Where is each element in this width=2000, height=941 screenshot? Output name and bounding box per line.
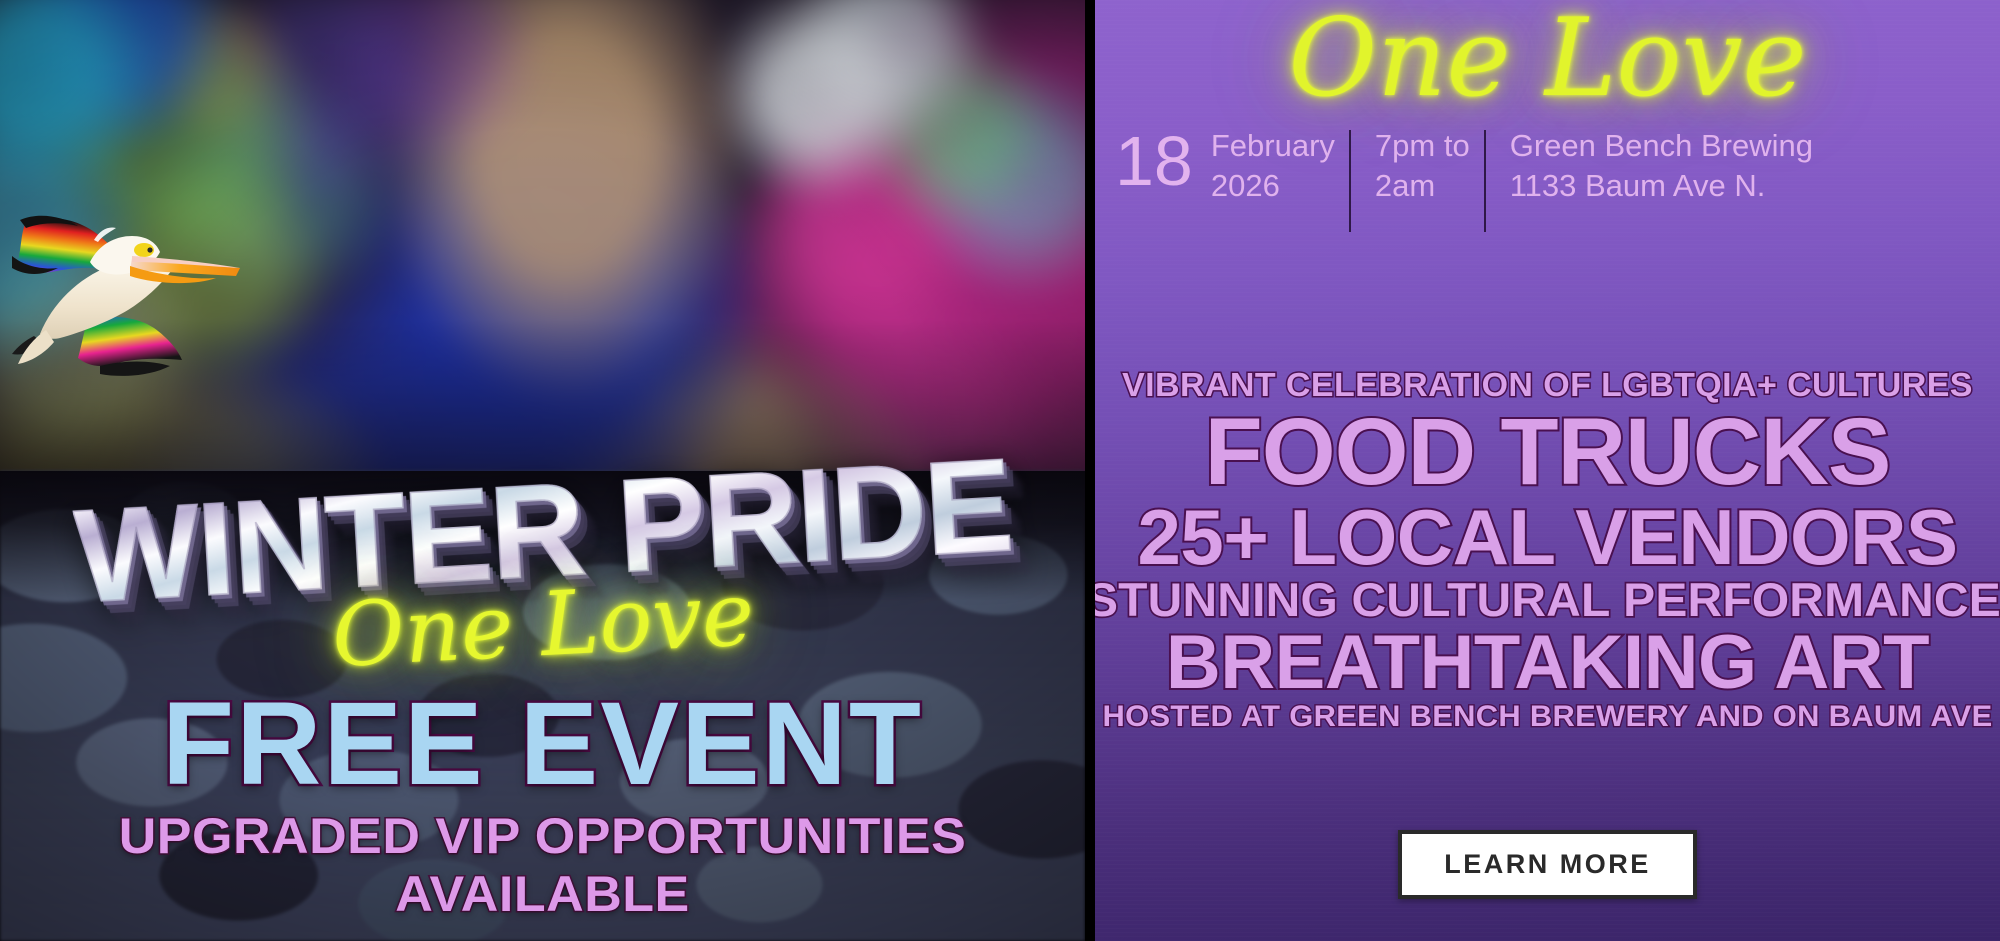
title-group: WINTER PRIDE One Love [0, 455, 1085, 685]
right-info-panel: One Love 18 February 2026 7pm to 2am Gre… [1095, 0, 2000, 941]
free-event-group: FREE EVENT UPGRADED VIP OPPORTUNITIES AV… [0, 685, 1085, 923]
cta-container: LEARN MORE [1095, 830, 2000, 899]
panel-divider [1085, 0, 1095, 941]
event-details-row: 18 February 2026 7pm to 2am Green Bench … [1115, 126, 1986, 232]
event-month-year: February 2026 [1193, 126, 1349, 205]
detail-separator-1 [1349, 130, 1351, 232]
feature-item-4: BREATHTAKING ART [1095, 625, 2000, 701]
rainbow-pelican-icon [4, 208, 274, 388]
detail-separator-2 [1484, 130, 1486, 232]
feature-item-5: HOSTED AT GREEN BENCH BREWERY AND ON BAU… [1095, 702, 2000, 732]
feature-list: VIBRANT CELEBRATION OF LGBTQIA+ CULTURES… [1095, 368, 2000, 732]
neon-tagline-right: One Love [1288, 0, 1806, 121]
event-time: 7pm to 2am [1351, 126, 1484, 205]
left-hero-panel: WINTER PRIDE One Love FREE EVENT UPGRADE… [0, 0, 1085, 941]
feature-item-1: FOOD TRUCKS [1095, 405, 2000, 500]
free-event-headline: FREE EVENT [0, 685, 1085, 803]
event-day: 18 [1115, 126, 1193, 195]
feature-item-0: VIBRANT CELEBRATION OF LGBTQIA+ CULTURES [1095, 368, 2000, 401]
learn-more-button[interactable]: LEARN MORE [1398, 830, 1697, 899]
event-promo-banner: WINTER PRIDE One Love FREE EVENT UPGRADE… [0, 0, 2000, 941]
feature-item-2: 25+ LOCAL VENDORS [1095, 498, 2000, 576]
vip-subline: UPGRADED VIP OPPORTUNITIES AVAILABLE [0, 807, 1085, 923]
neon-tagline-left: One Love [329, 562, 756, 687]
event-venue: Green Bench Brewing 1133 Baum Ave N. [1486, 126, 1827, 205]
feature-item-3: STUNNING CULTURAL PERFORMANCES [1095, 576, 2000, 623]
